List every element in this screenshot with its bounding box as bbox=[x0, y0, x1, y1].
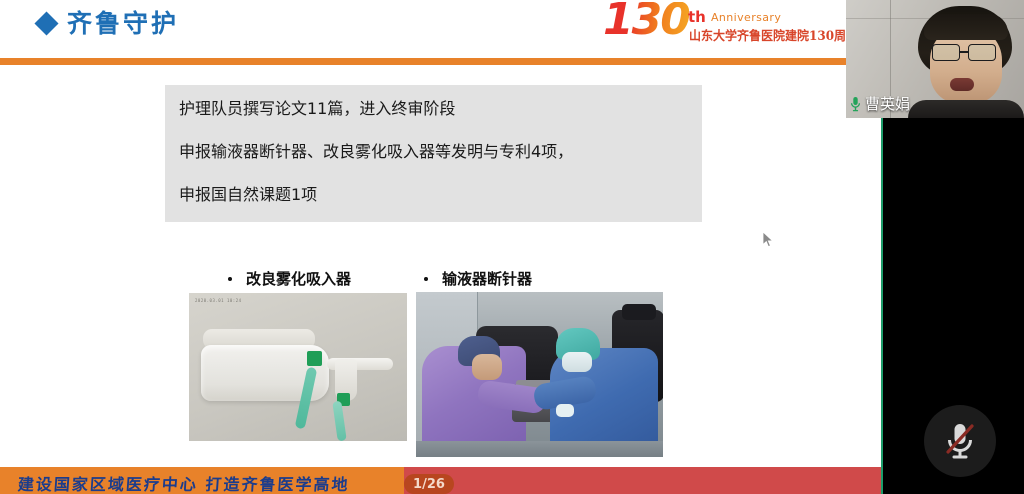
glasses-icon bbox=[932, 44, 998, 61]
mute-toggle-button[interactable] bbox=[924, 405, 996, 477]
anniversary-word: Anniversary bbox=[711, 11, 781, 24]
diamond-icon bbox=[34, 11, 58, 35]
glasses-lens-right bbox=[968, 44, 996, 61]
staff-purple-face bbox=[472, 354, 502, 380]
anniversary-superscript: th bbox=[688, 8, 706, 26]
glasses-bridge bbox=[960, 51, 968, 53]
body-line-2: 申报输液器断针器、改良雾化吸入器等发明与专利4项， bbox=[179, 144, 702, 160]
participant-name: 曹英娟 bbox=[865, 93, 910, 114]
footer-banner-text: 建设国家区域医疗中心 打造齐鲁医学高地 bbox=[17, 471, 350, 494]
slide-header: 齐鲁守护 130 th Anniversary 山东大学齐鲁医院建院130周年 bbox=[0, 0, 883, 56]
caption-nebulizer-label: 改良雾化吸入器 bbox=[246, 268, 351, 289]
page-indicator: 1/26 bbox=[404, 474, 454, 494]
page-title: 齐鲁守护 bbox=[67, 11, 179, 36]
caption-needle-breaker: 输液器断针器 bbox=[424, 268, 532, 289]
screen-root: 齐鲁守护 130 th Anniversary 山东大学齐鲁医院建院130周年 … bbox=[0, 0, 1024, 494]
caption-nebulizer: 改良雾化吸入器 bbox=[228, 268, 351, 289]
staff-blue-mask bbox=[562, 352, 592, 372]
microphone-muted-icon bbox=[943, 421, 977, 461]
nebulizer-green-connector-top bbox=[307, 351, 322, 366]
participant-mouth bbox=[950, 78, 974, 91]
anniversary-number: 130 bbox=[603, 2, 689, 42]
operating-room-photo bbox=[416, 292, 663, 457]
body-line-3: 申报国自然课题1项 bbox=[179, 187, 702, 203]
header-divider bbox=[0, 58, 883, 65]
chair-headrest bbox=[622, 304, 656, 320]
nebulizer-photo: 2020.03.01 10:24 bbox=[189, 293, 407, 441]
staff-glove bbox=[556, 404, 574, 417]
body-text-panel: 护理队员撰写论文11篇，进入终审阶段 申报输液器断针器、改良雾化吸入器等发明与专… bbox=[165, 85, 702, 222]
slide-title-group: 齐鲁守护 bbox=[38, 11, 179, 36]
participant-fringe bbox=[924, 14, 1008, 40]
shared-slide[interactable]: 齐鲁守护 130 th Anniversary 山东大学齐鲁医院建院130周年 … bbox=[0, 0, 883, 494]
glasses-lens-left bbox=[932, 44, 960, 61]
participant-name-badge: 曹英娟 bbox=[850, 93, 910, 114]
footer-banner-red-section bbox=[404, 467, 883, 494]
bullet-dot-icon bbox=[424, 277, 428, 281]
mouse-cursor bbox=[762, 231, 774, 248]
caption-needle-breaker-label: 输液器断针器 bbox=[442, 268, 532, 289]
anniversary-chinese-text: 山东大学齐鲁医院建院130周年 bbox=[689, 27, 858, 45]
body-line-1: 护理队员撰写论文11篇，进入终审阶段 bbox=[179, 101, 702, 117]
anniversary-logo: 130 th Anniversary 山东大学齐鲁医院建院130周年 bbox=[603, 2, 883, 54]
microphone-icon bbox=[850, 96, 861, 112]
photo-captions: 改良雾化吸入器 输液器断针器 bbox=[0, 268, 883, 294]
participant-video-tile[interactable]: 曹英娟 bbox=[846, 0, 1024, 118]
bullet-dot-icon bbox=[228, 277, 232, 281]
participant-shoulders bbox=[908, 100, 1024, 118]
room-floor bbox=[416, 441, 663, 457]
photo-timestamp-watermark: 2020.03.01 10:24 bbox=[195, 298, 242, 303]
